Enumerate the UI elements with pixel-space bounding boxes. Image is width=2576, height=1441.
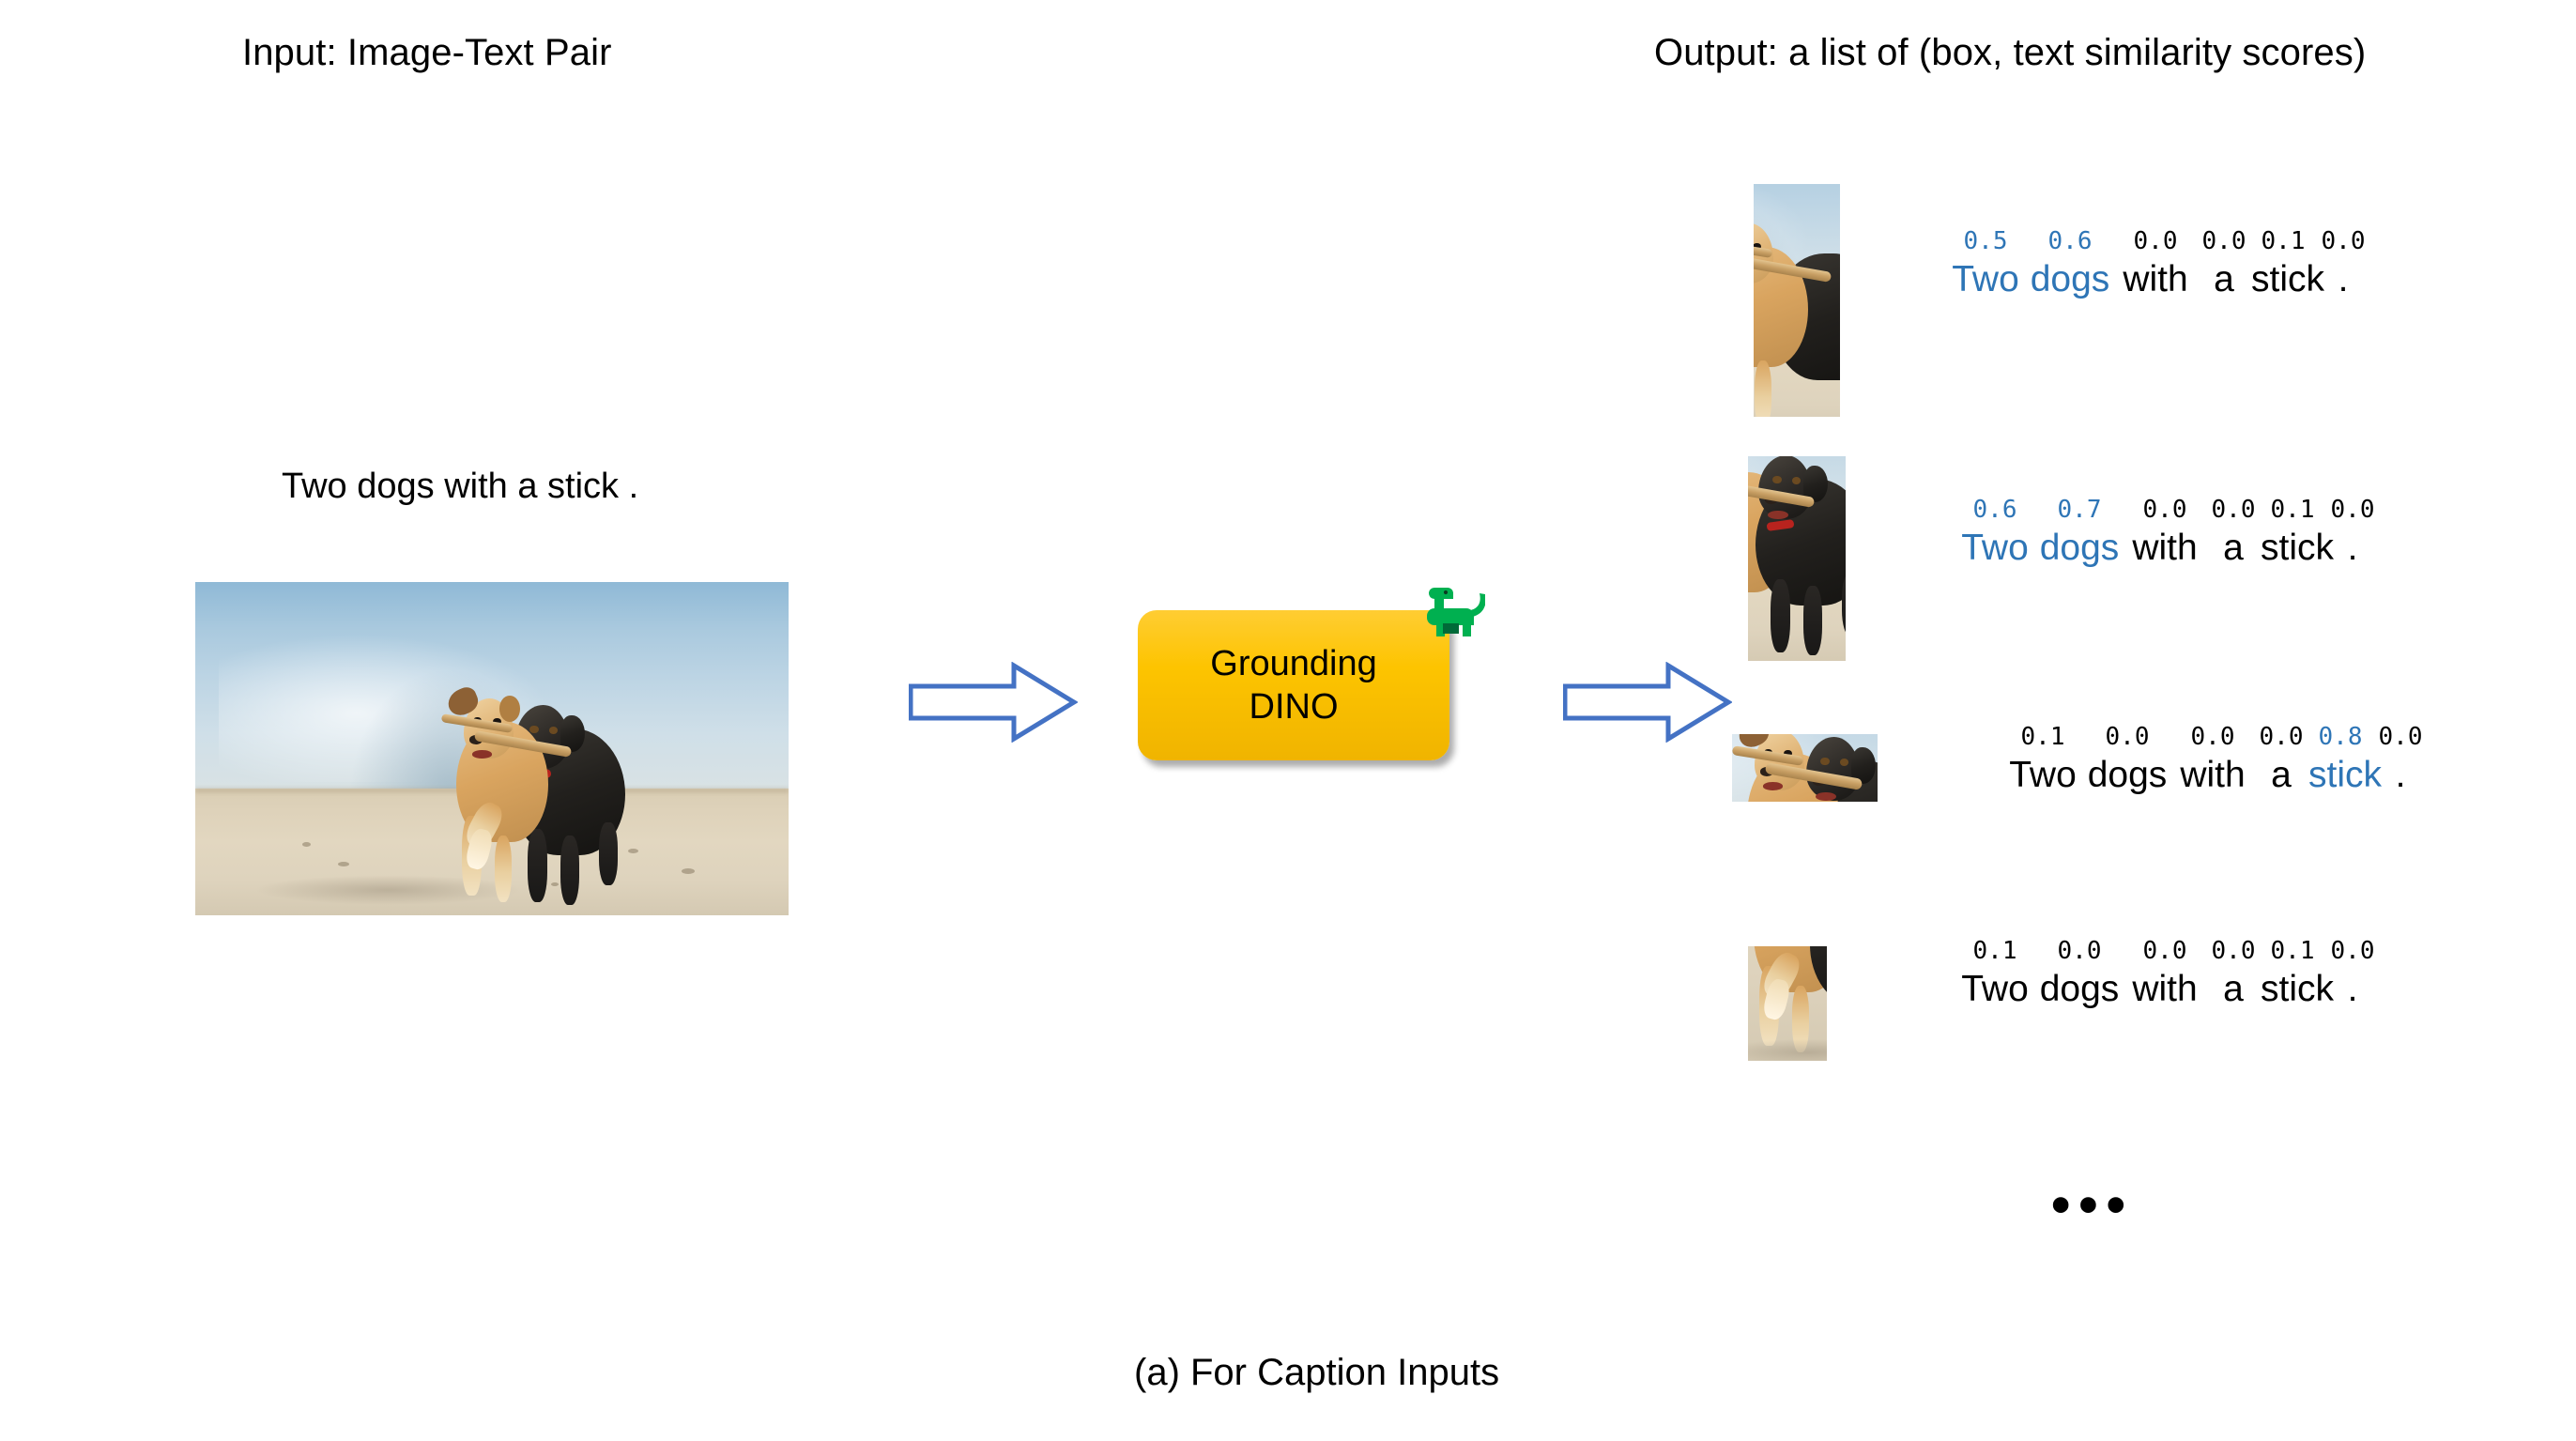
score-cell: 0.0 [2324,496,2381,524]
beach-scene-crop [1754,184,1840,417]
black-dog-eye [1820,758,1829,765]
row-text-block: 0.60.70.00.00.10.0 Twodogswithastick. [1955,496,2381,573]
beach-scene [195,582,789,915]
token-cell: a [2206,969,2261,1010]
score-cell: 0.0 [2124,937,2206,965]
score-cell: 0.6 [1955,496,2035,524]
ground-shadow [1748,1039,1827,1061]
grounding-dino-box[interactable]: Grounding DINO [1138,610,1449,760]
token-row: Twodogswithastick. [2002,755,2429,800]
score-cell: 0.0 [2197,227,2251,255]
black-dog-leg [528,829,547,902]
crop-dog-legs-thumbnail [1748,946,1827,1061]
score-cell: 0.0 [2083,723,2171,751]
token-cell: with [2171,755,2254,796]
black-dog-eye [549,727,558,734]
sand-speck [302,842,311,847]
model-name-line2: DINO [1250,685,1339,728]
figure-caption: (a) For Caption Inputs [1134,1352,1499,1394]
crop-tan-dog-thumbnail [1754,184,1840,417]
token-cell: . [2324,969,2381,1010]
token-cell: a [2197,259,2251,300]
score-row: 0.10.00.00.00.10.0 [1955,937,2381,969]
output-row: 0.10.00.00.00.10.0 Twodogswithastick. [1748,946,2381,1061]
row-text-block: 0.50.60.00.00.10.0 Twodogswithastick. [1945,227,2371,304]
beach-scene-crop [1748,946,1827,1061]
input-heading: Input: Image-Text Pair [242,32,612,74]
score-cell: 0.0 [2315,227,2371,255]
token-cell: dogs [2035,969,2124,1010]
tan-dog-mouth [472,750,492,759]
token-cell: stick [2261,528,2324,569]
token-cell: dogs [2026,259,2114,300]
score-cell: 0.1 [2261,496,2324,524]
token-cell: . [2324,528,2381,569]
score-cell: 0.0 [2171,723,2254,751]
dinosaur-icon [1425,582,1485,640]
score-cell: 0.8 [2308,723,2372,751]
token-cell: . [2372,755,2429,796]
score-row: 0.60.70.00.00.10.0 [1955,496,2381,528]
black-dog-leg [599,822,618,885]
flow-arrow-left [909,662,1078,743]
score-cell: 0.5 [1945,227,2026,255]
score-row: 0.50.60.00.00.10.0 [1945,227,2371,259]
black-dog-leg [1803,586,1822,656]
token-cell: with [2124,969,2206,1010]
token-cell: Two [2002,755,2083,796]
row-text-block: 0.10.00.00.00.80.0 Twodogswithastick. [2002,723,2429,800]
tan-dog-mouth [1763,782,1783,790]
black-dog-eye [1792,477,1801,484]
token-cell: stick [2261,969,2324,1010]
score-cell: 0.0 [2206,937,2261,965]
token-cell: dogs [2083,755,2171,796]
black-dog-leg [1771,579,1790,652]
beach-scene-crop [1748,456,1846,661]
input-photo [195,582,789,915]
token-cell: with [2124,528,2206,569]
black-dog-eye [1840,759,1848,766]
beach-scene-crop [1732,734,1878,802]
score-cell: 0.0 [2372,723,2429,751]
token-cell: a [2254,755,2308,796]
score-cell: 0.0 [2114,227,2197,255]
token-cell: stick [2308,755,2372,796]
sand-speck [551,882,559,886]
score-cell: 0.0 [2206,496,2261,524]
row-text-block: 0.10.00.00.00.10.0 Twodogswithastick. [1955,937,2381,1014]
crop-black-dog-thumbnail [1748,456,1846,661]
score-row: 0.10.00.00.00.80.0 [2002,723,2429,755]
score-cell: 0.0 [2035,937,2124,965]
score-cell: 0.1 [2002,723,2083,751]
black-dog-eye [1772,476,1781,483]
black-dog-mouth [1816,792,1835,801]
score-cell: 0.7 [2035,496,2124,524]
crop-stick-thumbnail [1732,734,1878,802]
score-cell: 0.1 [1955,937,2035,965]
black-dog-eye [529,726,538,733]
tan-dog-leg [495,835,513,902]
black-dog-mouth [1768,511,1787,519]
score-cell: 0.1 [2251,227,2315,255]
tan-dog-ear [499,696,521,722]
ground-shadow [254,875,521,905]
output-row: 0.10.00.00.00.80.0 Twodogswithastick. [1732,734,2429,802]
ellipsis-more-rows: ••• [2051,1178,2134,1233]
black-dog-leg [560,835,579,906]
token-cell: Two [1945,259,2026,300]
token-cell: with [2114,259,2197,300]
token-cell: . [2315,259,2371,300]
score-cell: 0.6 [2026,227,2114,255]
token-row: Twodogswithastick. [1955,969,2381,1014]
input-caption-text: Two dogs with a stick . [282,467,638,507]
token-cell: Two [1955,528,2035,569]
token-cell: Two [1955,969,2035,1010]
token-row: Twodogswithastick. [1955,528,2381,573]
token-cell: stick [2251,259,2315,300]
score-cell: 0.0 [2324,937,2381,965]
output-row: 0.50.60.00.00.10.0 Twodogswithastick. [1754,184,2371,417]
model-name-line1: Grounding [1210,642,1376,685]
tan-dog-leg [1755,360,1772,417]
score-cell: 0.0 [2124,496,2206,524]
token-row: Twodogswithastick. [1945,259,2371,304]
flow-arrow-right [1563,662,1732,743]
score-cell: 0.1 [2261,937,2324,965]
score-cell: 0.0 [2254,723,2308,751]
output-row: 0.60.70.00.00.10.0 Twodogswithastick. [1748,456,2381,661]
token-cell: dogs [2035,528,2124,569]
token-cell: a [2206,528,2261,569]
output-heading: Output: a list of (box, text similarity … [1654,32,2366,74]
